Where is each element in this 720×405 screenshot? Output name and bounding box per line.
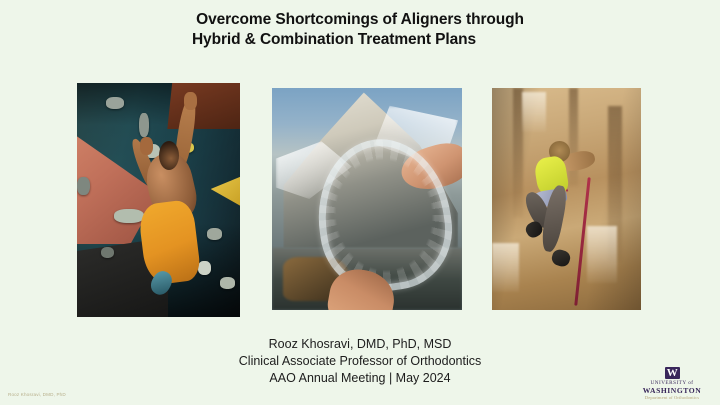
image-indoor-climber [77, 83, 240, 317]
presenter-info: Rooz Khosravi, DMD, PhD, MSD Clinical As… [0, 336, 720, 387]
presenter-name: Rooz Khosravi, DMD, PhD, MSD [0, 336, 720, 353]
uw-logo: W UNIVERSITY of WASHINGTON Department of… [630, 367, 714, 401]
climber-upper-fist [184, 92, 197, 110]
image-clear-aligner [272, 88, 462, 310]
uw-department-line: Department of Orthodontics [630, 396, 714, 401]
outdoor-climber-figure [528, 141, 608, 288]
climber-left-fist [140, 137, 153, 155]
presenter-event: AAO Annual Meeting | May 2024 [0, 370, 720, 387]
indoor-climber-figure [128, 102, 229, 299]
image-outdoor-climber [492, 88, 641, 310]
uw-w-mark-icon: W [665, 367, 680, 379]
rock-pale-patch [522, 92, 546, 132]
rock-pale-patch [492, 243, 519, 292]
climbing-hold [77, 177, 90, 196]
climbing-hold [106, 97, 124, 109]
uw-washington-line: WASHINGTON [630, 387, 714, 395]
presenter-title: Clinical Associate Professor of Orthodon… [0, 353, 720, 370]
footer-credit: Rooz Khosravi, DMD, PhD [8, 392, 66, 397]
climber-shoe-front [550, 248, 571, 268]
presentation-slide: Overcome Shortcomings of Aligners throug… [0, 0, 720, 405]
